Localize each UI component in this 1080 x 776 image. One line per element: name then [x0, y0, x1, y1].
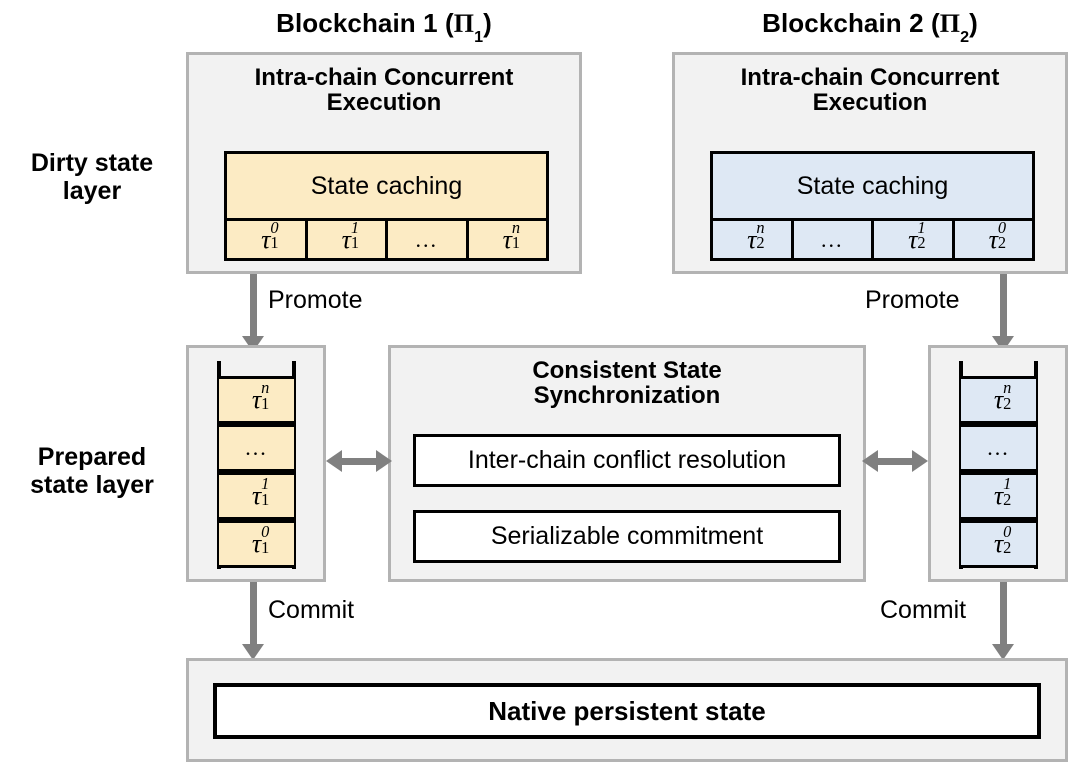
layer-label-dirty-state: Dirty state layer — [8, 149, 176, 205]
chain2-tau-cell-1: τ12 — [871, 221, 952, 258]
chain1-title: Blockchain 1 (Π1) — [186, 8, 582, 43]
tau-token: τ01 — [261, 227, 270, 253]
chain1-dirty-state-panel: Intra-chain Concurrent Execution State c… — [186, 52, 582, 274]
chain1-title-pi: Π — [454, 9, 474, 38]
sync-left-arrow-head-left — [326, 450, 342, 472]
chain2-state-caching-label: State caching — [713, 154, 1032, 218]
native-persistent-state-panel: Native persistent state — [186, 658, 1068, 762]
chain1-state-caching-label: State caching — [227, 154, 546, 218]
sync-row-serializable-commitment[interactable]: Serializable commitment — [413, 510, 841, 563]
chain1-stack-cell-0: τ01 — [219, 520, 294, 568]
chain1-stack-cell-n: τn1 — [219, 376, 294, 424]
chain2-dirty-state-panel: Intra-chain Concurrent Execution State c… — [672, 52, 1068, 274]
sync-heading: Consistent State Synchronization — [391, 358, 863, 409]
tau-subscript: 1 — [512, 235, 520, 251]
chain2-execution-heading: Intra-chain Concurrent Execution — [675, 65, 1065, 116]
tau-token: τ11 — [252, 483, 261, 509]
commit-right-label: Commit — [880, 596, 966, 625]
chain2-state-cache-block: State caching τn2 ... τ12 τ02 — [710, 151, 1035, 261]
layer-label-prepared-state: Prepared state layer — [4, 443, 180, 499]
tau-token: τn1 — [503, 227, 512, 253]
commit-left-arrow-shaft — [250, 582, 257, 646]
promote-left-label: Promote — [268, 286, 362, 315]
chain1-tau-row: τ01 τ11 ... τn1 — [227, 218, 546, 258]
ellipsis-text: ... — [987, 435, 1010, 461]
chain1-tau-cell-ellipsis: ... — [385, 221, 466, 258]
chain2-tau-row: τn2 ... τ12 τ02 — [713, 218, 1032, 258]
chain1-stack-cell-1: τ11 — [219, 472, 294, 520]
tau-subscript: 2 — [756, 235, 764, 251]
promote-right-arrow-shaft — [1000, 274, 1007, 338]
tau-token: τn1 — [252, 387, 261, 413]
chain2-stack-cell-n: τn2 — [961, 376, 1036, 424]
chain2-prepared-state-panel: τn2 ... τ12 τ02 — [928, 345, 1068, 582]
chain1-stack-cell-ellipsis: ... — [219, 424, 294, 472]
chain2-stack-cell-1: τ12 — [961, 472, 1036, 520]
chain2-tau-cell-0: τ02 — [952, 221, 1033, 258]
chain2-stack-cell-0: τ02 — [961, 520, 1036, 568]
chain2-tau-cell-ellipsis: ... — [791, 221, 872, 258]
tau-token: τ12 — [908, 227, 917, 253]
sync-right-arrow-head-right — [912, 450, 928, 472]
tau-subscript: 2 — [1003, 492, 1011, 508]
chain2-title: Blockchain 2 (Π2) — [672, 8, 1068, 43]
tau-subscript: 1 — [270, 235, 278, 251]
promote-left-arrow-shaft — [250, 274, 257, 338]
chain2-title-close: ) — [969, 8, 978, 38]
tau-token: τn2 — [747, 227, 756, 253]
tau-subscript: 2 — [917, 235, 925, 251]
native-persistent-state-box: Native persistent state — [213, 683, 1041, 739]
chain1-prepared-state-panel: τn1 ... τ11 τ01 — [186, 345, 326, 582]
chain1-title-close: ) — [483, 8, 492, 38]
chain2-title-text: Blockchain 2 ( — [762, 8, 940, 38]
chain1-title-subscript: 1 — [474, 28, 483, 46]
tau-token: τn2 — [994, 387, 1003, 413]
commit-left-label: Commit — [268, 596, 354, 625]
tau-subscript: 1 — [351, 235, 359, 251]
tau-subscript: 2 — [998, 235, 1006, 251]
promote-right-label: Promote — [865, 286, 959, 315]
tau-token: τ01 — [252, 531, 261, 557]
chain1-title-text: Blockchain 1 ( — [276, 8, 454, 38]
chain2-title-pi: Π — [940, 9, 960, 38]
chain2-tau-cell-n: τn2 — [713, 221, 791, 258]
tau-token: τ02 — [989, 227, 998, 253]
tau-subscript: 1 — [261, 540, 269, 556]
tau-subscript: 2 — [1003, 396, 1011, 412]
tau-subscript: 1 — [261, 492, 269, 508]
chain2-stack-cell-ellipsis: ... — [961, 424, 1036, 472]
chain1-tau-cell-1: τ11 — [305, 221, 386, 258]
consistent-state-sync-panel: Consistent State Synchronization Inter-c… — [388, 345, 866, 582]
tau-token: τ12 — [994, 483, 1003, 509]
tau-subscript: 1 — [261, 396, 269, 412]
tau-subscript: 2 — [1003, 540, 1011, 556]
tau-token: τ02 — [994, 531, 1003, 557]
chain1-tau-cell-n: τn1 — [466, 221, 547, 258]
tau-token: τ11 — [342, 227, 351, 253]
commit-right-arrow-shaft — [1000, 582, 1007, 646]
sync-right-arrow-head-left — [862, 450, 878, 472]
chain1-execution-heading: Intra-chain Concurrent Execution — [189, 65, 579, 116]
chain1-state-cache-block: State caching τ01 τ11 ... τn1 — [224, 151, 549, 261]
sync-row-conflict-resolution[interactable]: Inter-chain conflict resolution — [413, 434, 841, 487]
sync-left-arrow-head-right — [376, 450, 392, 472]
chain1-tau-cell-0: τ01 — [227, 221, 305, 258]
ellipsis-text: ... — [245, 435, 268, 461]
ellipsis-text: ... — [416, 227, 439, 253]
chain2-title-subscript: 2 — [960, 28, 969, 46]
ellipsis-text: ... — [821, 227, 844, 253]
